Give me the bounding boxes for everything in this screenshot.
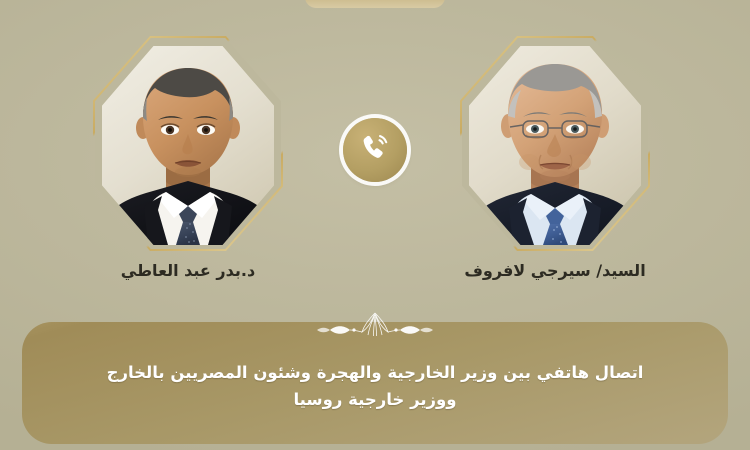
caption-line-1: اتصال هاتفي بين وزير الخارجية والهجرة وش… xyxy=(107,360,644,387)
announcement-card: اتصال هاتفي بين وزير الخارجية والهجرة وش… xyxy=(0,0,750,450)
top-pill-ornament xyxy=(305,0,445,8)
caption-panel: اتصال هاتفي بين وزير الخارجية والهجرة وش… xyxy=(22,322,728,444)
portrait-frame-left xyxy=(93,36,283,251)
portrait-photo-left xyxy=(102,46,274,245)
caption-text: اتصال هاتفي بين وزير الخارجية والهجرة وش… xyxy=(73,360,678,413)
person-name-left: د.بدر عبد العاطي xyxy=(73,261,303,282)
person-name-right: السيد/ سيرجي لافروف xyxy=(440,261,670,282)
portrait-frame-right xyxy=(460,36,650,251)
caption-line-2: ووزير خارجية روسيا xyxy=(107,387,644,414)
phone-call-icon xyxy=(358,133,392,167)
portrait-illustration-badr xyxy=(102,46,274,245)
phone-call-badge xyxy=(343,118,407,182)
